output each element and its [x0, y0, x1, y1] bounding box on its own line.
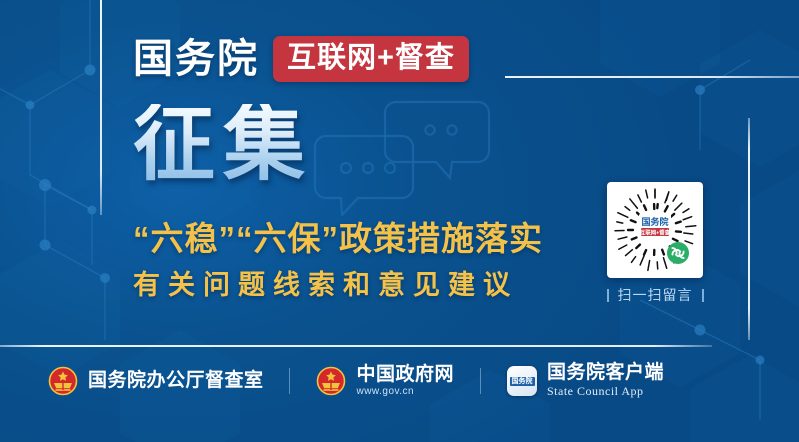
campaign-badge: 互联网+督查 — [273, 36, 469, 82]
footer-item-gov-cn[interactable]: 中国政府网 www.gov.cn — [290, 364, 480, 399]
divider-footer-horizontal — [0, 345, 712, 347]
qr-caption-label: 扫一扫留言 — [618, 285, 693, 305]
tick-left-icon — [607, 289, 609, 302]
page-title: 征集 — [133, 104, 313, 186]
qr-code-image: 国务院 互联网+督查 — [612, 187, 698, 273]
subtitle-line-2: 有关问题线索和意见建议 — [133, 272, 518, 299]
divider-right-vertical — [748, 118, 750, 340]
footer-item-supervision-office[interactable]: 国务院办公厅督查室 — [22, 366, 290, 396]
footer-text-stack: 国务院客户端 State Council App — [547, 362, 664, 399]
qr-center-sub: 互联网+督查 — [640, 228, 671, 236]
speech-bubble-icon — [300, 96, 530, 216]
wechat-miniprogram-icon — [667, 242, 689, 264]
divider-left-vertical — [100, 0, 102, 215]
footer-sublabel: State Council App — [547, 384, 664, 400]
campaign-badge-label: 互联网+督查 — [287, 44, 455, 73]
footer-label: 国务院办公厅督查室 — [88, 370, 264, 392]
app-icon-label: 国务院 — [510, 377, 535, 386]
footer-label: 中国政府网 — [356, 364, 454, 386]
footer-label: 国务院客户端 — [547, 362, 664, 384]
footer: 国务院办公厅督查室 中国政府网 www.gov.cn 国务院 — [0, 355, 712, 407]
organization-title: 国务院 — [133, 39, 259, 79]
tick-right-icon — [702, 289, 704, 302]
national-emblem-icon — [48, 366, 78, 396]
footer-item-state-council-app[interactable]: 国务院 国务院客户端 State Council App — [481, 362, 690, 399]
subtitle-line-1: “六稳”“六保”政策措施落实 — [133, 222, 543, 255]
footer-sublabel: www.gov.cn — [356, 385, 454, 398]
government-campaign-banner: 国务院 互联网+督查 征集 “六稳”“六保”政策措施落实 有关问题线索和意见建议 — [0, 0, 799, 442]
qr-code[interactable]: 国务院 互联网+督查 — [607, 182, 703, 278]
national-emblem-icon — [316, 366, 346, 396]
state-council-app-icon: 国务院 — [507, 366, 537, 396]
qr-center-title: 国务院 — [641, 216, 668, 227]
divider-top-horizontal — [505, 76, 799, 78]
footer-text-stack: 中国政府网 www.gov.cn — [356, 364, 454, 399]
qr-caption: 扫一扫留言 — [592, 285, 718, 305]
header: 国务院 互联网+督查 — [133, 36, 469, 82]
